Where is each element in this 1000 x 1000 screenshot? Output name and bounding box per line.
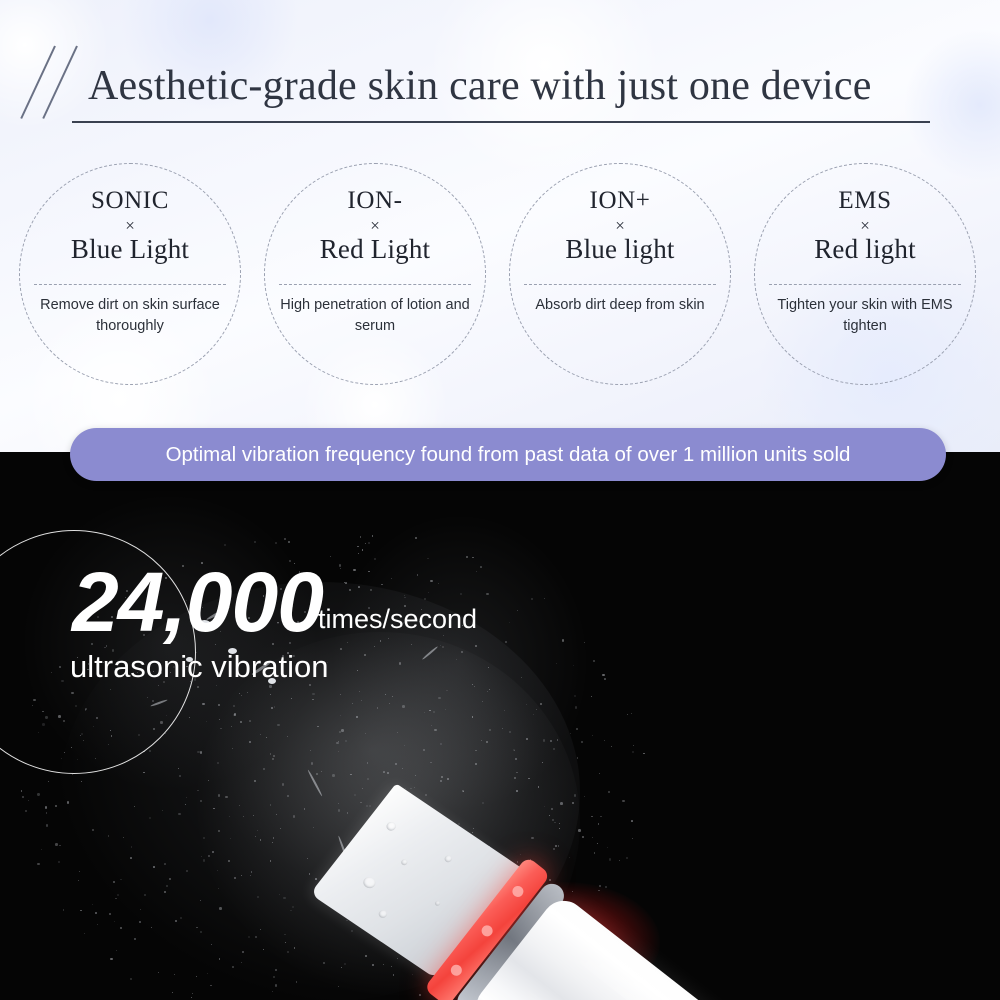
water-bubble bbox=[434, 900, 441, 907]
spray-particle bbox=[257, 830, 258, 831]
spray-particle bbox=[429, 710, 430, 711]
spray-particle bbox=[549, 815, 550, 816]
spray-particle bbox=[514, 750, 515, 751]
spray-particle bbox=[312, 693, 315, 696]
spray-particle bbox=[110, 958, 112, 960]
spray-particle bbox=[424, 598, 426, 600]
spray-particle bbox=[143, 772, 145, 774]
spray-particle bbox=[37, 863, 39, 865]
spray-particle bbox=[559, 823, 560, 824]
spray-particle bbox=[397, 732, 398, 733]
spray-particle bbox=[430, 762, 431, 763]
spray-particle bbox=[504, 710, 505, 711]
spray-particle bbox=[116, 950, 117, 951]
spray-particle bbox=[248, 936, 250, 938]
spray-particle bbox=[249, 720, 251, 722]
spray-particle bbox=[218, 830, 219, 831]
spray-particle bbox=[290, 910, 291, 911]
spray-particle bbox=[475, 763, 477, 765]
spray-particle bbox=[632, 838, 633, 839]
feature-title-separator: × bbox=[510, 217, 730, 234]
spray-particle bbox=[144, 894, 146, 896]
spray-particle bbox=[201, 856, 202, 857]
spray-particle bbox=[338, 803, 339, 804]
feature-divider bbox=[279, 284, 471, 285]
feature-title-bottom: Blue light bbox=[510, 236, 730, 263]
spray-particle bbox=[388, 638, 389, 639]
feature-title-top: EMS bbox=[755, 188, 975, 213]
feature-description: Tighten your skin with EMS tighten bbox=[763, 295, 967, 338]
spray-particle bbox=[312, 699, 314, 701]
spray-particle bbox=[178, 768, 179, 769]
spray-particle bbox=[442, 646, 445, 649]
spray-particle bbox=[249, 741, 251, 743]
spray-particle bbox=[46, 824, 48, 826]
spray-particle bbox=[247, 692, 248, 693]
spray-particle bbox=[219, 719, 220, 720]
spray-particle bbox=[475, 645, 477, 647]
spray-particle bbox=[461, 651, 463, 653]
spray-particle bbox=[153, 866, 155, 868]
spray-particle bbox=[489, 729, 490, 730]
spray-particle bbox=[288, 541, 290, 543]
spray-particle bbox=[280, 828, 281, 829]
spray-particle bbox=[552, 819, 554, 821]
spray-particle bbox=[540, 703, 542, 705]
spray-particle bbox=[410, 788, 412, 790]
spray-particle bbox=[211, 944, 212, 945]
feature-title: SONIC × Blue Light bbox=[20, 188, 240, 263]
spray-particle bbox=[627, 714, 628, 715]
spray-particle bbox=[200, 931, 202, 933]
feature-circle-ion-minus: ION- × Red Light High penetration of lot… bbox=[264, 163, 486, 385]
spray-particle bbox=[180, 917, 182, 919]
feature-description: Absorb dirt deep from skin bbox=[518, 295, 722, 316]
spray-particle bbox=[197, 790, 199, 792]
spray-particle bbox=[345, 740, 347, 742]
spray-particle bbox=[317, 726, 319, 728]
water-bubble bbox=[400, 858, 409, 866]
spray-particle bbox=[417, 574, 419, 576]
spray-particle bbox=[175, 920, 177, 922]
spray-particle bbox=[191, 997, 192, 998]
spray-particle bbox=[441, 776, 443, 778]
spray-particle bbox=[365, 543, 366, 544]
spray-particle bbox=[487, 691, 489, 693]
spray-streak bbox=[307, 769, 323, 796]
spray-particle bbox=[84, 933, 85, 934]
spray-particle bbox=[415, 537, 417, 539]
spray-particle bbox=[572, 802, 574, 804]
spray-particle bbox=[533, 714, 534, 715]
spray-particle bbox=[266, 737, 267, 738]
spray-particle bbox=[434, 729, 436, 731]
spray-particle bbox=[573, 665, 574, 666]
spray-particle bbox=[347, 642, 348, 643]
spray-particle bbox=[307, 858, 309, 860]
spray-particle bbox=[270, 694, 271, 695]
spray-particle bbox=[270, 804, 271, 805]
spray-particle bbox=[551, 808, 553, 810]
spray-particle bbox=[291, 698, 292, 699]
spray-particle bbox=[472, 557, 474, 559]
spray-particle bbox=[599, 773, 600, 774]
spray-particle bbox=[592, 735, 593, 736]
spray-particle bbox=[292, 906, 294, 908]
spray-particle bbox=[55, 805, 57, 807]
spray-particle bbox=[517, 610, 518, 611]
spray-particle bbox=[604, 740, 605, 741]
spray-particle bbox=[604, 678, 606, 680]
spray-particle bbox=[360, 802, 361, 803]
spray-particle bbox=[294, 947, 295, 948]
spray-particle bbox=[481, 740, 482, 741]
spray-particle bbox=[234, 713, 236, 715]
spray-particle bbox=[357, 670, 358, 671]
spray-particle bbox=[577, 757, 579, 759]
spray-particle bbox=[438, 583, 439, 584]
spray-particle bbox=[269, 685, 271, 687]
spray-particle bbox=[570, 733, 571, 734]
spray-particle bbox=[78, 880, 79, 881]
spray-particle bbox=[293, 815, 295, 817]
spray-particle bbox=[515, 758, 517, 760]
spray-particle bbox=[392, 696, 393, 697]
spray-particle bbox=[92, 829, 94, 831]
water-bubble bbox=[361, 875, 378, 890]
spray-particle bbox=[108, 835, 109, 836]
spray-particle bbox=[593, 660, 595, 662]
spray-particle bbox=[430, 580, 433, 583]
spray-particle bbox=[287, 736, 288, 737]
spray-particle bbox=[347, 812, 349, 814]
spray-particle bbox=[631, 820, 633, 822]
spray-particle bbox=[149, 750, 151, 752]
spray-particle bbox=[349, 589, 351, 591]
spray-particle bbox=[443, 635, 444, 636]
spray-particle bbox=[186, 797, 187, 798]
spray-particle bbox=[415, 775, 416, 776]
spray-particle bbox=[310, 750, 311, 751]
led-dot bbox=[449, 963, 464, 978]
spray-particle bbox=[224, 544, 226, 546]
spray-particle bbox=[486, 741, 488, 743]
spray-particle bbox=[272, 758, 274, 760]
spray-particle bbox=[341, 729, 344, 732]
spray-particle bbox=[456, 659, 458, 661]
feature-title: ION+ × Blue light bbox=[510, 188, 730, 263]
spray-particle bbox=[336, 742, 338, 744]
spray-particle bbox=[25, 810, 28, 813]
spray-particle bbox=[273, 755, 276, 758]
spray-particle bbox=[520, 854, 521, 855]
spray-particle bbox=[374, 646, 375, 647]
spray-particle bbox=[212, 851, 214, 853]
spray-particle bbox=[239, 805, 240, 806]
spray-particle bbox=[374, 558, 376, 560]
hero-subtitle: ultrasonic vibration bbox=[70, 649, 328, 685]
spray-particle bbox=[92, 904, 93, 905]
spray-particle bbox=[22, 796, 24, 798]
feature-circle-sonic: SONIC × Blue Light Remove dirt on skin s… bbox=[19, 163, 241, 385]
spray-particle bbox=[165, 733, 166, 734]
spray-particle bbox=[475, 750, 476, 751]
spray-particle bbox=[202, 703, 205, 706]
feature-description: High penetration of lotion and serum bbox=[273, 295, 477, 338]
feature-circle-ems: EMS × Red light Tighten your skin with E… bbox=[754, 163, 976, 385]
spray-particle bbox=[598, 823, 600, 825]
spray-particle bbox=[130, 978, 132, 980]
spray-particle bbox=[626, 857, 628, 859]
spray-particle bbox=[350, 774, 351, 775]
spray-particle bbox=[611, 746, 612, 747]
spray-particle bbox=[274, 706, 276, 708]
spray-particle bbox=[536, 709, 537, 710]
spray-particle bbox=[114, 921, 115, 922]
spray-particle bbox=[368, 571, 369, 572]
spray-particle bbox=[538, 786, 540, 788]
spray-particle bbox=[178, 813, 181, 816]
spray-particle bbox=[440, 743, 442, 745]
spray-particle bbox=[315, 878, 317, 880]
spray-particle bbox=[287, 951, 289, 953]
spray-particle bbox=[284, 934, 286, 936]
spray-particle bbox=[344, 963, 346, 965]
spray-particle bbox=[304, 808, 306, 810]
spray-particle bbox=[216, 685, 217, 686]
water-bubble bbox=[443, 854, 453, 863]
spray-particle bbox=[531, 837, 534, 840]
spray-particle bbox=[581, 741, 583, 743]
spray-particle bbox=[517, 861, 519, 863]
spray-particle bbox=[559, 828, 560, 829]
spray-particle bbox=[399, 662, 401, 664]
spray-particle bbox=[219, 958, 220, 959]
spray-particle bbox=[185, 804, 186, 805]
spray-particle bbox=[557, 739, 558, 740]
spray-particle bbox=[174, 974, 176, 976]
spray-particle bbox=[575, 706, 577, 708]
spray-particle bbox=[473, 828, 475, 830]
spray-particle bbox=[158, 972, 159, 973]
spray-particle bbox=[402, 768, 403, 769]
spray-particle bbox=[619, 860, 620, 861]
spray-particle bbox=[255, 836, 256, 837]
spray-particle bbox=[358, 586, 360, 588]
spray-particle bbox=[427, 558, 428, 559]
spray-particle bbox=[340, 694, 341, 695]
spray-particle bbox=[542, 762, 543, 763]
spray-particle bbox=[358, 553, 359, 554]
spray-particle bbox=[412, 974, 413, 975]
spray-particle bbox=[553, 748, 555, 750]
spray-particle bbox=[263, 949, 264, 950]
spray-particle bbox=[428, 592, 429, 593]
spray-particle bbox=[357, 546, 358, 547]
spray-particle bbox=[352, 703, 353, 704]
spray-particle bbox=[115, 898, 117, 900]
spray-particle bbox=[633, 745, 634, 746]
spray-particle bbox=[196, 976, 197, 977]
spray-particle bbox=[505, 641, 507, 643]
spray-particle bbox=[169, 878, 171, 880]
water-bubble bbox=[377, 909, 389, 920]
feature-title-bottom: Blue Light bbox=[20, 236, 240, 263]
spray-particle bbox=[466, 556, 468, 558]
spray-particle bbox=[166, 885, 168, 887]
spray-particle bbox=[397, 958, 398, 959]
spray-particle bbox=[275, 542, 277, 544]
spray-particle bbox=[553, 848, 555, 850]
spray-particle bbox=[234, 877, 236, 879]
spray-particle bbox=[516, 772, 518, 774]
spray-particle bbox=[45, 806, 48, 809]
spray-particle bbox=[402, 705, 405, 708]
spray-particle bbox=[445, 709, 446, 710]
spray-particle bbox=[200, 800, 202, 802]
spray-particle bbox=[296, 981, 297, 982]
feature-title-bottom: Red Light bbox=[265, 236, 485, 263]
spray-particle bbox=[203, 837, 205, 839]
feature-divider bbox=[524, 284, 716, 285]
spray-particle bbox=[151, 927, 152, 928]
spray-particle bbox=[21, 790, 23, 792]
spray-particle bbox=[272, 842, 273, 843]
spray-particle bbox=[241, 695, 242, 696]
spray-particle bbox=[254, 541, 256, 543]
spray-particle bbox=[260, 839, 261, 840]
spray-particle bbox=[419, 994, 421, 996]
spray-particle bbox=[360, 536, 362, 538]
water-bubble bbox=[385, 820, 398, 832]
spray-particle bbox=[164, 863, 166, 865]
feature-title: ION- × Red Light bbox=[265, 188, 485, 263]
led-dot bbox=[479, 923, 494, 938]
spray-particle bbox=[440, 645, 441, 646]
spray-particle bbox=[287, 795, 289, 797]
spray-particle bbox=[239, 693, 240, 694]
spray-particle bbox=[387, 772, 389, 774]
spray-particle bbox=[431, 725, 432, 726]
spray-particle bbox=[81, 781, 83, 783]
spray-particle bbox=[544, 806, 545, 807]
spray-particle bbox=[206, 721, 207, 722]
spray-particle bbox=[582, 836, 584, 838]
spray-particle bbox=[172, 992, 173, 993]
spray-particle bbox=[41, 849, 42, 850]
spray-particle bbox=[486, 593, 488, 595]
feature-title-bottom: Red light bbox=[755, 236, 975, 263]
spray-particle bbox=[275, 969, 277, 971]
spray-particle bbox=[558, 845, 560, 847]
spray-particle bbox=[502, 728, 503, 729]
spray-particle bbox=[578, 829, 581, 832]
spray-particle bbox=[480, 566, 482, 568]
spray-particle bbox=[463, 791, 464, 792]
title-divider bbox=[72, 121, 930, 123]
spray-particle bbox=[283, 897, 285, 899]
spray-particle bbox=[361, 700, 362, 701]
spray-particle bbox=[584, 796, 585, 797]
spray-particle bbox=[218, 794, 220, 796]
spray-particle bbox=[544, 598, 545, 599]
spray-particle bbox=[217, 762, 219, 764]
spray-particle bbox=[370, 589, 372, 591]
spray-particle bbox=[597, 843, 598, 844]
feature-title-top: SONIC bbox=[20, 188, 240, 213]
spray-particle bbox=[351, 930, 353, 932]
spray-particle bbox=[488, 667, 490, 669]
spray-particle bbox=[203, 859, 206, 862]
spray-particle bbox=[232, 748, 233, 749]
spray-particle bbox=[80, 910, 82, 912]
spray-particle bbox=[395, 763, 397, 765]
spray-particle bbox=[164, 891, 166, 893]
spray-particle bbox=[438, 697, 440, 699]
spray-particle bbox=[233, 705, 235, 707]
hero-big-number: 24,000 bbox=[72, 560, 323, 644]
spray-particle bbox=[340, 648, 342, 650]
spray-particle bbox=[186, 870, 189, 873]
spray-particle bbox=[423, 749, 425, 751]
spray-particle bbox=[229, 816, 230, 817]
spray-particle bbox=[130, 857, 132, 859]
spray-particle bbox=[605, 886, 607, 888]
feature-description: Remove dirt on skin surface thoroughly bbox=[28, 295, 232, 338]
spray-particle bbox=[179, 775, 181, 777]
spray-particle bbox=[592, 837, 593, 838]
spray-particle bbox=[560, 802, 563, 805]
spray-particle bbox=[447, 778, 449, 780]
spray-particle bbox=[482, 802, 484, 804]
feature-title-separator: × bbox=[20, 217, 240, 234]
spray-particle bbox=[316, 773, 318, 775]
spray-particle bbox=[372, 535, 373, 536]
spray-particle bbox=[364, 654, 366, 656]
spray-particle bbox=[113, 881, 115, 883]
spray-particle bbox=[526, 704, 527, 705]
spray-particle bbox=[472, 716, 474, 718]
spray-particle bbox=[489, 689, 490, 690]
spray-particle bbox=[356, 716, 358, 718]
spray-particle bbox=[594, 852, 596, 854]
device-illustration: EMS ION- ANLAN bbox=[455, 892, 1000, 1000]
spray-particle bbox=[414, 787, 415, 788]
spray-particle bbox=[140, 909, 142, 911]
spray-particle bbox=[531, 598, 533, 600]
spray-particle bbox=[79, 871, 80, 872]
spray-particle bbox=[200, 751, 203, 754]
spray-particle bbox=[257, 896, 259, 898]
spray-particle bbox=[228, 860, 230, 862]
spray-particle bbox=[219, 907, 222, 910]
spray-particle bbox=[404, 745, 405, 746]
spray-particle bbox=[67, 801, 70, 804]
spray-particle bbox=[404, 595, 405, 596]
spray-particle bbox=[574, 695, 576, 697]
spray-particle bbox=[411, 644, 412, 645]
spray-particle bbox=[474, 686, 475, 687]
spray-particle bbox=[218, 704, 220, 706]
spray-particle bbox=[380, 640, 382, 642]
spray-particle bbox=[345, 582, 347, 584]
spray-particle bbox=[528, 778, 530, 780]
spray-particle bbox=[255, 936, 258, 939]
spray-particle bbox=[391, 966, 392, 967]
spray-particle bbox=[48, 781, 49, 782]
spray-particle bbox=[139, 921, 141, 923]
spray-particle bbox=[210, 985, 211, 986]
